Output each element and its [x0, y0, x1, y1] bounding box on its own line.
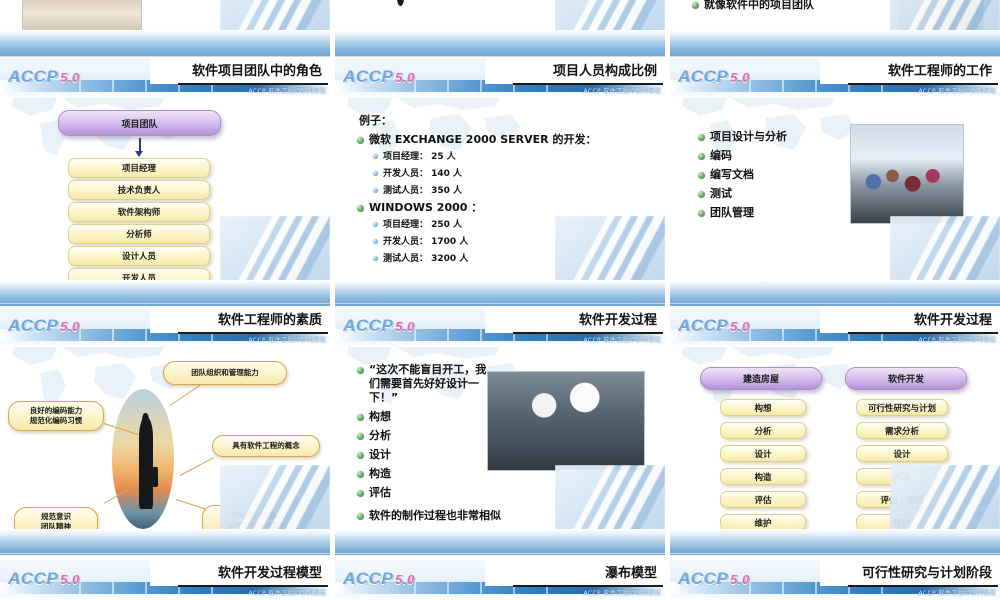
callout-text: 团队组织和管理能力 [191, 368, 259, 378]
title-plate: 软件工程师的素质 [150, 307, 330, 333]
slide-title: 瀑布模型 [499, 562, 657, 586]
title-plate: 软件项目团队中的角色 [150, 58, 330, 84]
course-subtitle: ACCP 软件工程师系列课程 [583, 588, 661, 597]
accp-logo: ACCP5.0 [8, 569, 80, 589]
course-subtitle: ACCP 软件工程师系列课程 [918, 588, 996, 597]
bullet-dot-icon [698, 134, 705, 141]
title-plate: 软件开发过程 [485, 307, 665, 333]
row-separator [0, 553, 1000, 554]
bullet-dot-icon [357, 367, 364, 374]
bullet-text: 构造 [369, 467, 391, 481]
keyboard-decoration-icon [890, 465, 1000, 533]
list-item: 分析 [357, 429, 487, 443]
compare-left-item: 评估 [720, 491, 806, 508]
title-plate: 可行性研究与计划阶段 [820, 560, 1000, 586]
bullet-text: 微软 EXCHANGE 2000 SERVER 的开发： [369, 133, 596, 147]
slide-thumbnail-dev-process-compare[interactable]: ACCP5.0 软件开发过程 ACCP 软件工程师系列课程 建造房屋 构想 分析… [670, 307, 1000, 555]
list-item: 编写文档 [698, 168, 787, 182]
accp-logo: ACCP5.0 [678, 569, 750, 589]
slide-title: 可行性研究与计划阶段 [834, 562, 992, 586]
slide-header-band: ACCP5.0 可行性研究与计划阶段 ACCP 软件工程师系列课程 [670, 560, 1000, 600]
arrow-head-icon [135, 151, 143, 157]
bullet-dot-icon [357, 137, 364, 144]
bullet-dot-icon [373, 256, 378, 261]
slide-thumbnail-feasibility[interactable]: ACCP5.0 可行性研究与计划阶段 ACCP 软件工程师系列课程 [670, 560, 1000, 600]
accp-logo: ACCP5.0 [8, 316, 80, 336]
bullet-dot-icon [373, 188, 378, 193]
slide-thumbnail-row1-col2[interactable] [335, 0, 665, 56]
bullet-text: 项目经理： 25 人 [383, 150, 456, 164]
diagram-header-box: 项目团队 [58, 110, 221, 136]
slide-header-band: ACCP5.0 软件工程师的工作 ACCP 软件工程师系列课程 [670, 58, 1000, 98]
keyboard-decoration-icon [555, 0, 665, 34]
keyboard-decoration-icon [890, 0, 1000, 34]
bullet-dot-icon [698, 210, 705, 217]
bullet-dot-icon [698, 191, 705, 198]
bullet-text: 测试人员： 350 人 [383, 184, 462, 198]
bullet-dot-icon [692, 2, 699, 9]
title-underline [513, 83, 663, 85]
bullet-dot-icon [357, 471, 364, 478]
slide-thumbnail-row1-col3[interactable]: 就像软件中的项目团队 [670, 0, 1000, 56]
course-subtitle: ACCP 软件工程师系列课程 [583, 335, 661, 344]
slide-thumbnail-waterfall[interactable]: ACCP5.0 瀑布模型 ACCP 软件工程师系列课程 [335, 560, 665, 600]
bullet-dot-icon [357, 433, 364, 440]
slide-title: 软件开发过程模型 [164, 562, 322, 586]
bullet-text: 就像软件中的项目团队 [704, 0, 814, 12]
accp-logo-version: 5.0 [60, 70, 80, 85]
slide-footer-band [0, 529, 330, 555]
slide-thumbnail-dev-process-quote[interactable]: ACCP5.0 软件开发过程 ACCP 软件工程师系列课程 “这次不能盲目开工，… [335, 307, 665, 555]
diagram-item-box: 项目经理 [68, 158, 210, 178]
accp-logo-version: 5.0 [730, 572, 750, 587]
compare-left-item: 设计 [720, 445, 806, 462]
bullet-text: WINDOWS 2000 ： [369, 201, 482, 215]
compare-left-item: 构造 [720, 468, 806, 485]
accp-logo-version: 5.0 [60, 572, 80, 587]
slide-sorter-grid: 就像软件中的项目团队 [0, 0, 1000, 600]
title-plate: 软件工程师的工作 [820, 58, 1000, 84]
slide-footer-band [670, 529, 1000, 555]
quote-text: “这次不能盲目开工，我们需要首先好好设计一下！” [369, 363, 487, 405]
diagram-item-box: 技术负责人 [68, 180, 210, 200]
diagram-item-box: 软件架构师 [68, 202, 210, 222]
callout-text: 良好的编码能力 [30, 406, 83, 416]
accp-logo-text: ACCP [678, 569, 728, 588]
callout-text: 具有软件工程的概念 [232, 441, 300, 451]
accp-logo-text: ACCP [8, 67, 58, 86]
slide-thumbnail-row1-col1[interactable] [0, 0, 330, 56]
list-item: 评估 [357, 486, 487, 500]
accp-logo-text: ACCP [343, 316, 393, 335]
slide-thumbnail-engineer-qualities[interactable]: ACCP5.0 软件工程师的素质 ACCP 软件工程师系列课程 团队组织和管理能… [0, 307, 330, 555]
list-item: 软件的制作过程也非常相似 [357, 509, 501, 523]
silhouette-head [142, 413, 148, 428]
slide-title: 软件开发过程 [834, 309, 992, 333]
list-item: WINDOWS 2000 ： [357, 201, 596, 215]
keyboard-decoration-icon [220, 465, 330, 533]
title-underline [848, 332, 998, 334]
accp-logo-text: ACCP [8, 569, 58, 588]
bullet-dot-icon [373, 239, 378, 244]
list-item: 项目设计与分析 [698, 130, 787, 144]
list-item: 开发人员： 140 人 [373, 167, 596, 181]
compare-left-header: 建造房屋 [700, 367, 822, 390]
accp-logo: ACCP5.0 [678, 316, 750, 336]
bullet-text: 测试人员： 3200 人 [383, 252, 468, 266]
callout-tail [170, 382, 205, 406]
bullet-dot-icon [357, 414, 364, 421]
bullet-dot-icon [698, 153, 705, 160]
title-underline [848, 83, 998, 85]
list-item: 构想 [357, 410, 487, 424]
keyboard-decoration-icon [890, 216, 1000, 284]
slide-header-band: ACCP5.0 软件开发过程 ACCP 软件工程师系列课程 [335, 307, 665, 347]
slide-header-band: ACCP5.0 项目人员构成比例 ACCP 软件工程师系列课程 [335, 58, 665, 98]
slide-title: 软件工程师的素质 [164, 309, 322, 333]
course-subtitle: ACCP 软件工程师系列课程 [918, 86, 996, 95]
accp-logo: ACCP5.0 [343, 67, 415, 87]
slide-header-band: ACCP5.0 瀑布模型 ACCP 软件工程师系列课程 [335, 560, 665, 600]
bullet-text: 团队管理 [710, 206, 754, 220]
bullet-dot-icon [373, 154, 378, 159]
title-plate: 项目人员构成比例 [485, 58, 665, 84]
bullet-text: 测试 [710, 187, 732, 201]
silhouette-body [139, 417, 153, 509]
row-separator [0, 303, 1000, 304]
callout-tail [176, 499, 207, 510]
title-underline [513, 332, 663, 334]
course-subtitle: ACCP 软件工程师系列课程 [248, 588, 326, 597]
title-underline [178, 83, 328, 85]
accp-logo-text: ACCP [343, 569, 393, 588]
list-item: 测试 [698, 187, 787, 201]
list-item: 测试人员： 350 人 [373, 184, 596, 198]
slide-title: 软件工程师的工作 [834, 60, 992, 84]
title-underline [848, 585, 998, 587]
businessman-silhouette-sunset-photo [112, 389, 174, 529]
bullet-text: 分析 [369, 429, 391, 443]
bullet-text: 编写文档 [710, 168, 754, 182]
slide-header-band: ACCP5.0 软件项目团队中的角色 ACCP 软件工程师系列课程 [0, 58, 330, 98]
construction-workers-blueprint-photo [487, 371, 645, 471]
list-item: 微软 EXCHANGE 2000 SERVER 的开发： [357, 133, 596, 147]
list-item: 团队管理 [698, 206, 787, 220]
accp-logo: ACCP5.0 [678, 67, 750, 87]
team-celebration-photo [850, 124, 964, 224]
title-plate: 软件开发过程模型 [150, 560, 330, 586]
course-subtitle: ACCP 软件工程师系列课程 [248, 86, 326, 95]
course-subtitle: ACCP 软件工程师系列课程 [583, 86, 661, 95]
column-gutter [665, 0, 670, 600]
callout-text: 规范化编码习惯 [30, 416, 83, 426]
bullet-dot-icon [357, 490, 364, 497]
accp-logo: ACCP5.0 [8, 67, 80, 87]
accp-logo-version: 5.0 [395, 319, 415, 334]
callout-bubble: 良好的编码能力 规范化编码习惯 [8, 401, 104, 431]
accp-logo: ACCP5.0 [343, 569, 415, 589]
bullet-text: 设计 [369, 448, 391, 462]
bullet-text: 评估 [369, 486, 391, 500]
bullet-dot-icon [373, 171, 378, 176]
silhouette-briefcase [152, 467, 159, 487]
accp-logo-text: ACCP [343, 67, 393, 86]
list-item: 项目经理： 25 人 [373, 150, 596, 164]
slide-header-band: ACCP5.0 软件工程师的素质 ACCP 软件工程师系列课程 [0, 307, 330, 347]
bullet-dot-icon [698, 172, 705, 179]
bullet-dot-icon [357, 452, 364, 459]
column-gutter [330, 0, 335, 600]
slide-footer-band [335, 30, 665, 56]
bullet-text: 构想 [369, 410, 391, 424]
accp-logo-text: ACCP [8, 316, 58, 335]
list-item: 就像软件中的项目团队 [692, 0, 814, 12]
keyboard-decoration-icon [220, 216, 330, 284]
slide-footer-band [335, 529, 665, 555]
accp-logo-version: 5.0 [730, 70, 750, 85]
list-item: 编码 [698, 149, 787, 163]
bullet-dot-icon [357, 513, 364, 520]
bullet-dot-icon [373, 222, 378, 227]
slide-thumbnail-staff-ratio[interactable]: ACCP5.0 项目人员构成比例 ACCP 软件工程师系列课程 例子： 微软 E… [335, 58, 665, 306]
bullet-text: 开发人员： 1700 人 [383, 235, 468, 249]
diagram-item-box: 设计人员 [68, 246, 210, 266]
accp-logo-text: ACCP [678, 67, 728, 86]
compare-left-item: 分析 [720, 422, 806, 439]
list-item: 构造 [357, 467, 487, 481]
course-subtitle: ACCP 软件工程师系列课程 [248, 335, 326, 344]
bullet-text: 项目经理： 250 人 [383, 218, 462, 232]
title-underline [513, 585, 663, 587]
row-separator [0, 56, 1000, 57]
keyboard-decoration-icon [555, 465, 665, 533]
bullet-dot-icon [357, 205, 364, 212]
title-plate: 软件开发过程 [820, 307, 1000, 333]
compare-right-item: 可行性研究与计划 [856, 399, 948, 416]
slide-thumbnail-process-models[interactable]: ACCP5.0 软件开发过程模型 ACCP 软件工程师系列课程 [0, 560, 330, 600]
callout-text: 规范意识 [41, 512, 71, 522]
slide-title: 软件开发过程 [499, 309, 657, 333]
slide-footer-band [0, 30, 330, 56]
accp-logo: ACCP5.0 [343, 316, 415, 336]
compare-left-item: 构想 [720, 399, 806, 416]
quote-item: “这次不能盲目开工，我们需要首先好好设计一下！” [357, 363, 487, 405]
accp-logo-version: 5.0 [730, 319, 750, 334]
slide-thumbnail-engineer-work[interactable]: ACCP5.0 软件工程师的工作 ACCP 软件工程师系列课程 项目设计与分析 [670, 58, 1000, 306]
accp-logo-version: 5.0 [395, 572, 415, 587]
slide-title: 项目人员构成比例 [499, 60, 657, 84]
arrow-line [139, 138, 141, 152]
callout-tail [180, 457, 214, 476]
accp-logo-version: 5.0 [395, 70, 415, 85]
callout-bubble: 团队组织和管理能力 [163, 361, 287, 385]
list-item: 设计 [357, 448, 487, 462]
slide-title: 软件项目团队中的角色 [164, 60, 322, 84]
title-underline [178, 585, 328, 587]
accp-logo-text: ACCP [678, 316, 728, 335]
keyboard-decoration-icon [555, 216, 665, 284]
lead-label: 例子： [359, 114, 392, 128]
bullet-text: 软件的制作过程也非常相似 [369, 509, 501, 523]
callout-bubble: 具有软件工程的概念 [212, 435, 320, 457]
bullet-text: 项目设计与分析 [710, 130, 787, 144]
title-plate: 瀑布模型 [485, 560, 665, 586]
accp-logo-version: 5.0 [60, 319, 80, 334]
slide-header-band: ACCP5.0 软件开发过程 ACCP 软件工程师系列课程 [670, 307, 1000, 347]
pointer-photo [397, 0, 404, 6]
bullet-text: 编码 [710, 149, 732, 163]
keyboard-decoration-icon [220, 0, 330, 34]
slide-header-band: ACCP5.0 软件开发过程模型 ACCP 软件工程师系列课程 [0, 560, 330, 600]
compare-right-item: 需求分析 [856, 422, 948, 439]
slide-footer-band [670, 30, 1000, 56]
diagram-item-box: 分析师 [68, 224, 210, 244]
slide-thumbnail-team-roles[interactable]: ACCP5.0 软件项目团队中的角色 ACCP 软件工程师系列课程 项目团队 项… [0, 58, 330, 306]
lead-text: 例子： [359, 114, 596, 128]
course-subtitle: ACCP 软件工程师系列课程 [918, 335, 996, 344]
compare-right-header: 软件开发 [845, 367, 967, 390]
compare-right-item: 设计 [856, 445, 948, 462]
bullet-text: 开发人员： 140 人 [383, 167, 462, 181]
title-underline [178, 332, 328, 334]
